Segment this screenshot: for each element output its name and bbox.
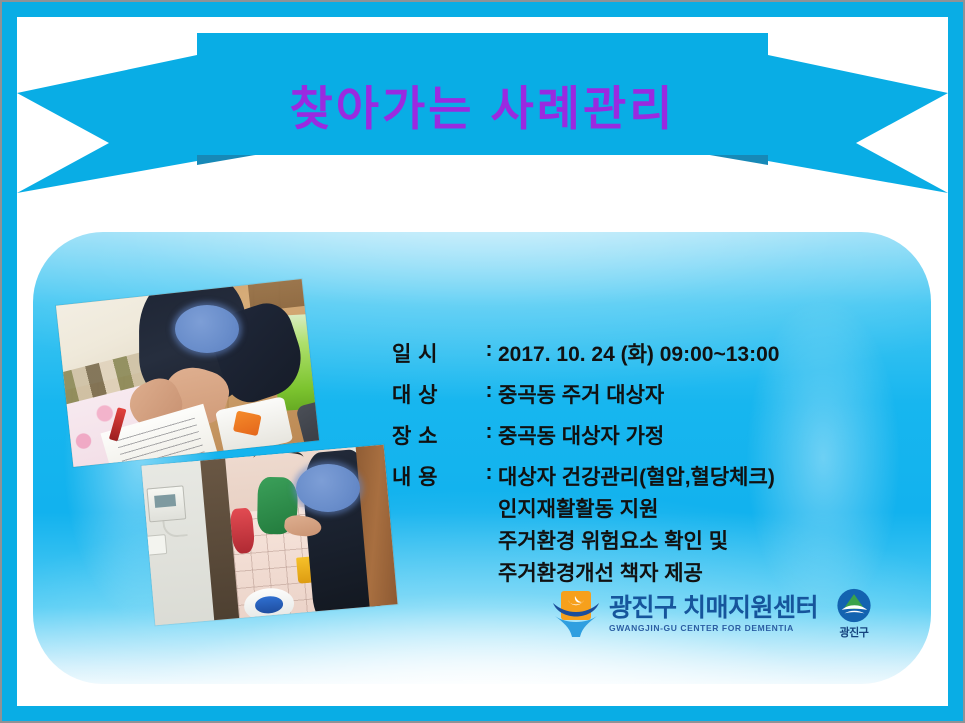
info-value-target: 중곡동 주거 대상자 [498, 379, 664, 409]
info-value-content: 대상자 건강관리(혈압,혈당체크) [498, 461, 775, 491]
ribbon-banner: 찾아가는 사례관리 [17, 33, 948, 193]
photo-2-scene [141, 445, 397, 626]
info-content-line-4: 주거환경개선 책자 제공 [498, 559, 862, 589]
info-value-place: 중곡동 대상자 가정 [498, 420, 664, 450]
photo-home-visit-housing-check [141, 445, 397, 626]
info-row-date: 일 시 : 2017. 10. 24 (화) 09:00~13:00 [392, 338, 862, 368]
info-colon-date: : [480, 338, 498, 362]
photo-1-scene [56, 279, 319, 467]
info-label-date: 일 시 [392, 338, 480, 368]
photo-home-visit-cognitive-worksheet [56, 279, 319, 467]
info-label-place: 장 소 [392, 420, 480, 450]
food-item [232, 410, 261, 435]
poster-root: 찾아가는 사례관리 [0, 0, 965, 723]
face-blur-oval-1 [175, 305, 239, 353]
info-value-date: 2017. 10. 24 (화) 09:00~13:00 [498, 338, 779, 368]
info-colon-content: : [480, 461, 498, 485]
info-label-content: 내 용 [392, 461, 480, 491]
info-content-line-2: 인지재활활동 지원 [498, 495, 862, 525]
info-row-place: 장 소 : 중곡동 대상자 가정 [392, 420, 862, 450]
logo-name-korean: 광진구 치매지원센터 [609, 595, 818, 621]
poster-title: 찾아가는 사례관리 [17, 85, 948, 132]
gwangjin-gu-emblem: 광진구 [832, 588, 876, 640]
info-colon-place: : [480, 420, 498, 444]
info-label-target: 대 상 [392, 379, 480, 409]
info-colon-target: : [480, 379, 498, 403]
organization-logo-lockup: 광진구 치매지원센터 GWANGJIN-GU CENTER FOR DEMENT… [552, 586, 872, 642]
logo-name-english: GWANGJIN-GU CENTER FOR DEMENTIA [609, 623, 818, 633]
logo-text-block: 광진구 치매지원센터 GWANGJIN-GU CENTER FOR DEMENT… [609, 595, 818, 633]
info-row-content: 내 용 : 대상자 건강관리(혈압,혈당체크) [392, 461, 862, 491]
control-panel-screen [154, 494, 177, 508]
face-blur-oval-2 [296, 464, 360, 512]
gwangjin-gu-emblem-label: 광진구 [840, 624, 869, 640]
event-info-block: 일 시 : 2017. 10. 24 (화) 09:00~13:00 대 상 :… [392, 338, 862, 588]
info-row-target: 대 상 : 중곡동 주거 대상자 [392, 379, 862, 409]
info-content-extra-lines: 인지재활활동 지원 주거환경 위험요소 확인 및 주거환경개선 책자 제공 [498, 495, 862, 588]
dementia-center-logo-icon [552, 590, 600, 638]
info-content-line-3: 주거환경 위험요소 확인 및 [498, 527, 862, 557]
